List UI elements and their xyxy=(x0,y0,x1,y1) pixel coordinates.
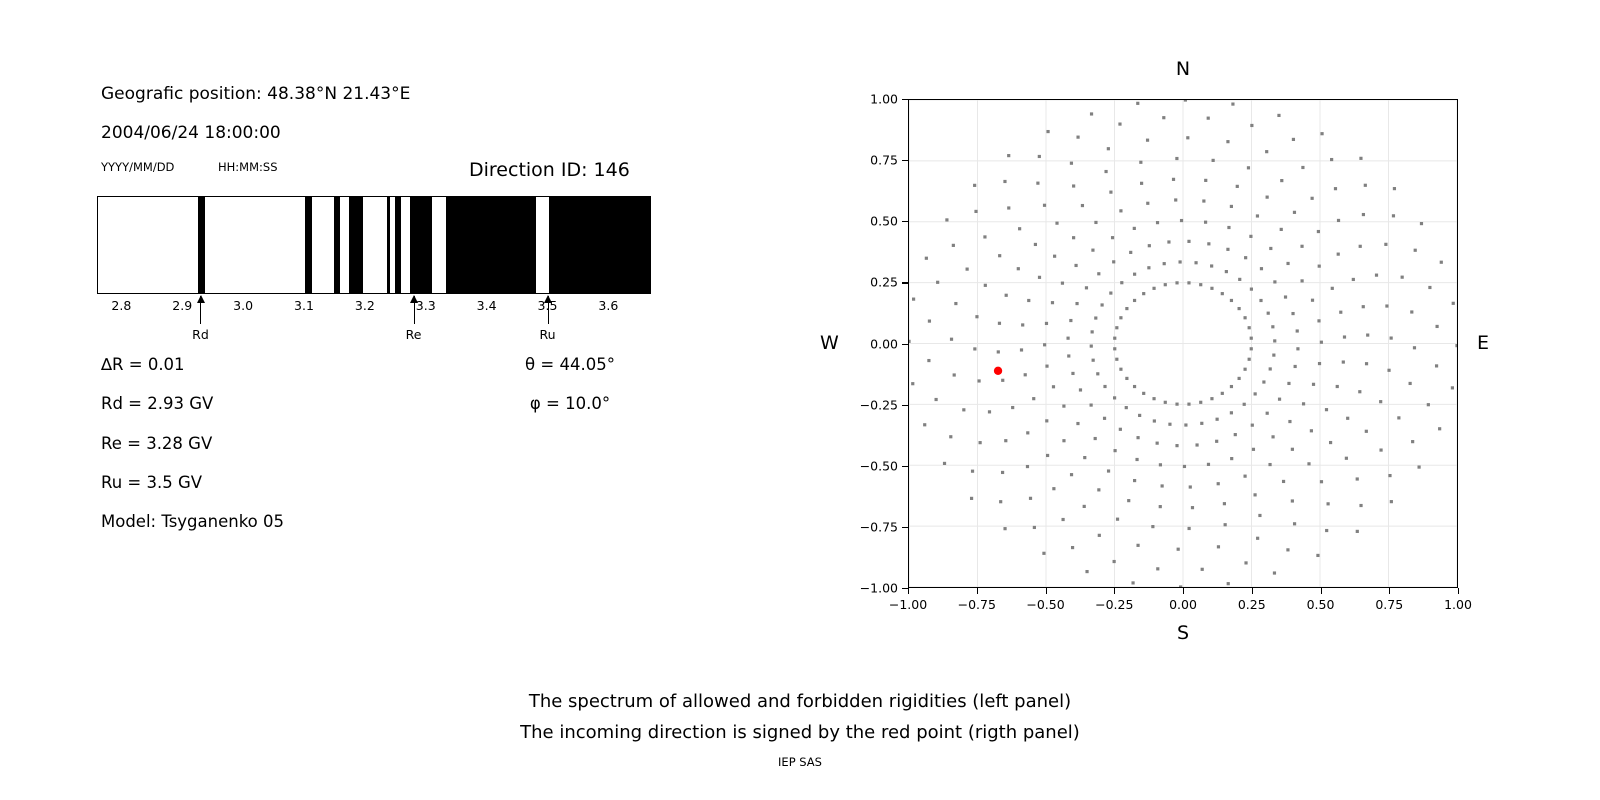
x-axis-tick-label: −1.00 xyxy=(889,597,927,612)
spectrum-tick-label: 2.8 xyxy=(111,298,131,313)
y-axis-tick-label: 0.50 xyxy=(870,214,898,229)
x-axis-tick-label: 0.25 xyxy=(1238,597,1266,612)
geographic-position-text: Geografic position: 48.38°N 21.43°E xyxy=(101,84,410,104)
date-format-hint: YYYY/MM/DD xyxy=(101,160,174,174)
marker-arrow-ru xyxy=(548,296,549,324)
x-axis-tick-mark xyxy=(1321,588,1322,594)
compass-west-label: W xyxy=(820,332,839,354)
compass-south-label: S xyxy=(1177,622,1189,644)
spectrum-tick-label: 3.4 xyxy=(477,298,497,313)
y-axis-tick-mark xyxy=(902,466,908,467)
x-axis-tick-mark xyxy=(1458,588,1459,594)
y-axis-tick-label: −0.50 xyxy=(860,458,898,473)
spectrum-axis: 2.82.93.03.13.23.33.43.53.6RdReRu xyxy=(97,294,651,350)
forbidden-band xyxy=(198,197,205,293)
polar-direction-panel: N S W E −1.00−1.00−0.75−0.75−0.50−0.50−0… xyxy=(760,0,1600,680)
direction-id-text: Direction ID: 146 xyxy=(469,159,630,181)
time-format-hint: HH:MM:SS xyxy=(218,160,278,174)
x-axis-tick-label: 1.00 xyxy=(1444,597,1472,612)
y-axis-tick-mark xyxy=(902,344,908,345)
spectrum-tick-label: 3.6 xyxy=(598,298,618,313)
y-axis-tick-label: −0.75 xyxy=(860,519,898,534)
x-axis-tick-mark xyxy=(1389,588,1390,594)
y-axis-tick-label: 1.00 xyxy=(870,92,898,107)
marker-label-rd: Rd xyxy=(192,327,209,342)
forbidden-band xyxy=(387,197,391,293)
x-axis-tick-mark xyxy=(1046,588,1047,594)
marker-arrow-rd xyxy=(200,296,201,324)
x-axis-tick-label: −0.25 xyxy=(1095,597,1133,612)
y-axis-tick-label: −1.00 xyxy=(860,581,898,596)
forbidden-band xyxy=(334,197,340,293)
y-axis-tick-mark xyxy=(902,160,908,161)
x-axis-tick-mark xyxy=(908,588,909,594)
x-axis-tick-mark xyxy=(1114,588,1115,594)
marker-arrow-re xyxy=(414,296,415,324)
forbidden-band xyxy=(446,197,536,293)
forbidden-band xyxy=(410,197,433,293)
caption-line-2: The incoming direction is signed by the … xyxy=(0,717,1600,748)
spectrum-bar xyxy=(97,196,651,294)
spectrum-tick-label: 3.2 xyxy=(355,298,375,313)
plot-frame xyxy=(908,99,1458,588)
x-axis-tick-label: −0.75 xyxy=(958,597,996,612)
marker-label-ru: Ru xyxy=(539,327,555,342)
x-axis-tick-mark xyxy=(1183,588,1184,594)
forbidden-band xyxy=(305,197,312,293)
forbidden-band xyxy=(549,197,652,293)
marker-label-re: Re xyxy=(406,327,422,342)
x-axis-tick-mark xyxy=(977,588,978,594)
param-phi: φ = 10.0° xyxy=(530,394,610,413)
compass-east-label: E xyxy=(1477,332,1489,354)
y-axis-tick-mark xyxy=(902,221,908,222)
spectrum-tick-label: 3.0 xyxy=(233,298,253,313)
y-axis-tick-label: 0.00 xyxy=(870,336,898,351)
param-re: Re = 3.28 GV xyxy=(101,434,212,453)
left-panel: Geografic position: 48.38°N 21.43°E 2004… xyxy=(0,0,760,680)
param-ru: Ru = 3.5 GV xyxy=(101,473,202,492)
param-rd: Rd = 2.93 GV xyxy=(101,394,213,413)
x-axis-tick-label: 0.00 xyxy=(1169,597,1197,612)
scatter-canvas xyxy=(909,100,1457,587)
figure-caption: The spectrum of allowed and forbidden ri… xyxy=(0,686,1600,748)
x-axis-tick-label: 0.50 xyxy=(1307,597,1335,612)
param-delta-r: ∆R = 0.01 xyxy=(101,355,185,374)
footer-credit: IEP SAS xyxy=(0,755,1600,769)
forbidden-band xyxy=(395,197,401,293)
rigidity-spectrum xyxy=(97,196,651,294)
grid-lines xyxy=(909,100,1457,587)
caption-line-1: The spectrum of allowed and forbidden ri… xyxy=(0,686,1600,717)
x-axis-tick-mark xyxy=(1252,588,1253,594)
incoming-direction-point xyxy=(994,367,1002,375)
spectrum-tick-label: 3.3 xyxy=(416,298,436,313)
y-axis-tick-mark xyxy=(902,527,908,528)
spectrum-tick-label: 3.1 xyxy=(294,298,314,313)
y-axis-tick-label: −0.25 xyxy=(860,397,898,412)
y-axis-tick-label: 0.75 xyxy=(870,153,898,168)
forbidden-band xyxy=(349,197,364,293)
y-axis-tick-label: 0.25 xyxy=(870,275,898,290)
compass-north-label: N xyxy=(1176,58,1190,80)
y-axis-tick-mark xyxy=(902,405,908,406)
x-axis-tick-label: −0.50 xyxy=(1026,597,1064,612)
param-model: Model: Tsyganenko 05 xyxy=(101,512,284,531)
y-axis-tick-mark xyxy=(902,282,908,283)
spectrum-tick-label: 2.9 xyxy=(172,298,192,313)
y-axis-tick-mark xyxy=(902,99,908,100)
x-axis-tick-label: 0.75 xyxy=(1375,597,1403,612)
param-theta: θ = 44.05° xyxy=(525,355,615,374)
datetime-text: 2004/06/24 18:00:00 xyxy=(101,123,281,143)
